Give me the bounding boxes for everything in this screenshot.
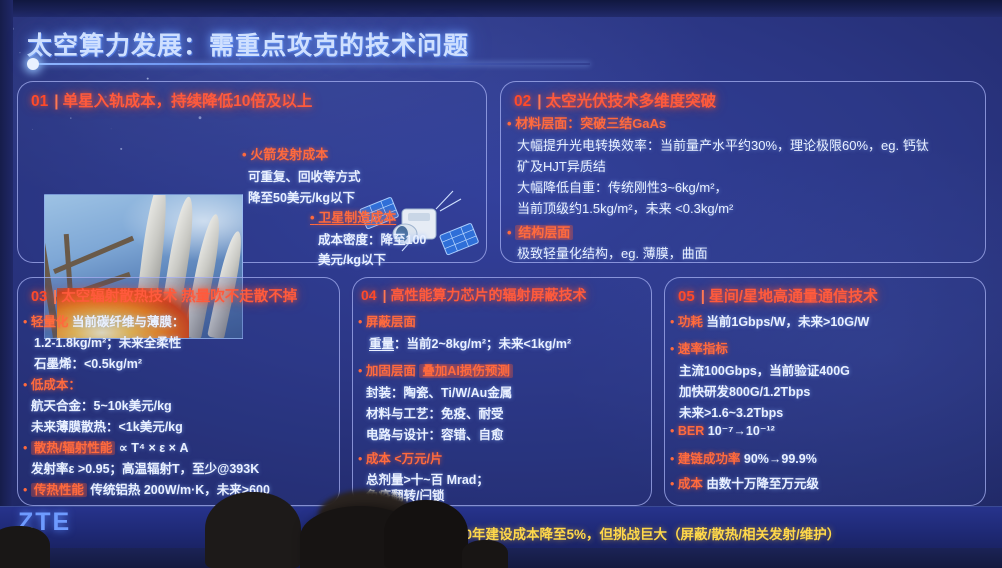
panel-02-bullet-0-line-2: 大幅降低自重：传统刚性3~6kg/m²， bbox=[517, 177, 728, 196]
panel-05-heading-text: 星间/星地高通量通信技术 bbox=[709, 288, 878, 305]
panel-05-number: 05 bbox=[678, 288, 695, 305]
panel-03-bullet-1-line-1: 未来薄膜散热：<1k美元/kg bbox=[31, 416, 183, 435]
panel-01-heading-text: 单星入轨成本，持续降低10倍及以上 bbox=[63, 93, 313, 110]
audience-head-silhouette bbox=[0, 526, 50, 568]
page-title: 太空算力发展：需重点攻克的技术问题 bbox=[27, 26, 647, 68]
panel-03-bullet-1-line-0: 航天合金：5~10k美元/kg bbox=[31, 395, 172, 414]
panel-04-bullet-1-line-0: 封装：陶瓷、Ti/W/Au金属 bbox=[366, 382, 512, 401]
panel-05-bullet-1-line-2: 未来>1.6~3.2Tbps bbox=[679, 402, 783, 421]
page-title-text: 太空算力发展：需重点攻克的技术问题 bbox=[27, 26, 647, 62]
panel-04: 04|高性能算力芯片的辐射屏蔽技术 • 屏蔽层面 重量：当前2~8kg/m²；未… bbox=[352, 277, 652, 506]
panel-04-number: 04 bbox=[361, 287, 377, 303]
panel-02-bullet-1-line-0: 极致轻量化结构，eg. 薄膜，曲面 bbox=[517, 243, 708, 262]
panel-02: 02|太空光伏技术多维度突破 • 材料层面：突破三结GaAs 大幅提升光电转换效… bbox=[500, 81, 986, 263]
panel-02-bullet-0-line-0: 大幅提升光电转换效率：当前量产水平约30%，理论极限60%，eg. 钙钛 bbox=[517, 135, 929, 154]
panel-02-separator: | bbox=[537, 93, 541, 110]
panel-01-bullet-1-line-1: 美元/kg以下 bbox=[318, 249, 386, 268]
panel-02-bullet-1-label: • 结构层面 bbox=[507, 222, 573, 241]
title-underline-rule bbox=[30, 63, 590, 65]
panel-04-separator: | bbox=[383, 287, 387, 303]
panel-04-bullet-1-line-1: 材料与工艺：免疫、耐受 bbox=[366, 403, 504, 422]
audience-head-silhouette bbox=[462, 540, 508, 568]
audience-head-silhouette bbox=[205, 492, 301, 568]
panel-03-bullet-0-line-2: 石墨烯：<0.5kg/m² bbox=[34, 353, 142, 372]
panel-01-heading: 01|单星入轨成本，持续降低10倍及以上 bbox=[31, 89, 312, 111]
panel-05-separator: | bbox=[701, 288, 705, 305]
panel-01-bullet-1-line-0: 成本密度：降至100 bbox=[318, 229, 426, 248]
audience-head-silhouette bbox=[384, 500, 468, 568]
panel-02-number: 02 bbox=[514, 93, 531, 110]
panel-01-separator: | bbox=[54, 93, 58, 110]
panel-05-bullet-0-label: • 功耗 当前1Gbps/W，未来>10G/W bbox=[670, 311, 869, 330]
panel-02-heading-text: 太空光伏技术多维度突破 bbox=[546, 93, 717, 110]
panel-03-heading: 03|太空辐射散热技术 热量吹不走散不掉 bbox=[31, 285, 297, 306]
panel-05-bullet-4-label: • 成本 由数十万降至万元级 bbox=[670, 473, 819, 492]
panel-04-heading-text: 高性能算力芯片的辐射屏蔽技术 bbox=[391, 287, 587, 303]
panel-03-bullet-0-line-1: 1.2-1.8kg/m²；未来全柔性 bbox=[34, 332, 181, 351]
panel-05-bullet-1-line-0: 主流100Gbps，当前验证400G bbox=[679, 360, 850, 379]
panel-04-bullet-2-label: • 成本 <万元/片 bbox=[358, 448, 443, 467]
panel-04-bullet-0-label: • 屏蔽层面 bbox=[358, 311, 416, 330]
panel-04-bullet-1-line-2: 电路与设计：容错、自愈 bbox=[366, 424, 504, 443]
room-left-edge bbox=[0, 0, 13, 568]
panel-04-bullet-1-label: • 加固层面 叠加AI损伤预测 bbox=[358, 360, 513, 379]
panel-05-bullet-3-label: • 建链成功率 90%→99.9% bbox=[670, 448, 817, 467]
panel-05-heading: 05|星间/星地高通量通信技术 bbox=[678, 285, 878, 306]
panel-05-bullet-1-line-1: 加快研发800G/1.2Tbps bbox=[679, 381, 810, 400]
panel-05-bullet-1-label: • 速率指标 bbox=[670, 338, 728, 357]
panel-03-bullet-1-label: • 低成本： bbox=[23, 374, 81, 393]
panel-01-bullet-0-line-0: 可重复、回收等方式 bbox=[248, 166, 361, 185]
panel-02-bullet-0-label: • 材料层面：突破三结GaAs bbox=[507, 113, 666, 132]
panel-03-bullet-2-line-0: 发射率ε >0.95；高温辐射T，至少@393K bbox=[31, 458, 259, 477]
panel-01-bullet-1-label: • 卫星制造成本 bbox=[310, 207, 396, 226]
panel-03-separator: | bbox=[53, 289, 57, 305]
panel-03-bullet-2-label: • 散热/辐射性能 ∝ T⁴ × ε × A bbox=[23, 437, 189, 456]
panel-02-bullet-0-line-3: 当前顶级约1.5kg/m²，未来 <0.3kg/m² bbox=[517, 198, 733, 217]
panel-04-heading: 04|高性能算力芯片的辐射屏蔽技术 bbox=[361, 285, 587, 305]
panel-03-bullet-0-label: • 轻量化 当前碳纤维与薄膜： bbox=[23, 311, 184, 330]
panel-05-bullet-2-label: • BER 10⁻⁷→10⁻¹² bbox=[670, 423, 775, 438]
panel-05: 05|星间/星地高通量通信技术 • 功耗 当前1Gbps/W，未来>10G/W … bbox=[664, 277, 986, 506]
panel-01-number: 01 bbox=[31, 93, 48, 110]
title-bullet-dot-icon bbox=[27, 58, 39, 70]
panel-04-bullet-0-line-0: 重量：当前2~8kg/m²；未来<1kg/m² bbox=[369, 333, 571, 352]
panel-03-heading-text: 太空辐射散热技术 热量吹不走散不掉 bbox=[61, 289, 297, 305]
panel-04-weight-keyword: 重量 bbox=[369, 337, 394, 351]
room-ceiling-edge bbox=[0, 0, 1002, 17]
panel-02-heading: 02|太空光伏技术多维度突破 bbox=[514, 89, 716, 111]
panel-01: 01|单星入轨成本，持续降低10倍及以上 bbox=[17, 81, 487, 263]
panel-01-bullet-0-line-1: 降至50美元/kg以下 bbox=[248, 187, 355, 206]
panel-01-bullet-0-label: • 火箭发射成本 bbox=[242, 144, 328, 163]
panel-03: 03|太空辐射散热技术 热量吹不走散不掉 • 轻量化 当前碳纤维与薄膜： 1.2… bbox=[17, 277, 340, 506]
panel-02-bullet-0-line-1: 矿及HJT异质结 bbox=[517, 156, 606, 175]
panel-03-number: 03 bbox=[31, 289, 47, 305]
